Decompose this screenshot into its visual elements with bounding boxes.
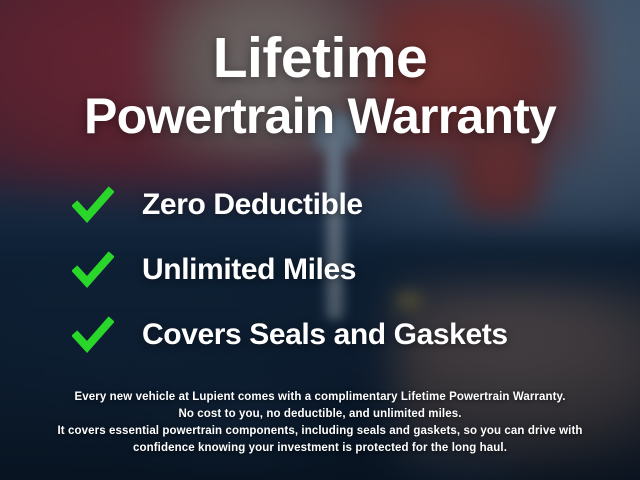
- footer-description: Every new vehicle at Lupient comes with …: [0, 389, 640, 457]
- check-icon: [72, 184, 114, 226]
- benefit-label: Covers Seals and Gaskets: [142, 318, 508, 352]
- headline: Lifetime Powertrain Warranty: [0, 30, 640, 146]
- check-icon: [72, 314, 114, 356]
- banner-content: Lifetime Powertrain Warranty Zero Deduct…: [0, 0, 640, 480]
- benefit-item-unlimited-miles: Unlimited Miles: [72, 237, 356, 302]
- footer-line-4: confidence knowing your investment is pr…: [28, 440, 612, 457]
- check-icon: [72, 249, 114, 291]
- benefit-item-covers-seals-and-gaskets: Covers Seals and Gaskets: [72, 302, 508, 367]
- benefit-list: Zero Deductible Unlimited Miles Covers S…: [0, 172, 640, 367]
- footer-line-1: Every new vehicle at Lupient comes with …: [28, 389, 612, 406]
- benefit-label: Unlimited Miles: [142, 253, 356, 287]
- headline-line-1: Lifetime: [0, 30, 640, 87]
- warranty-promo-banner: Lifetime Powertrain Warranty Zero Deduct…: [0, 0, 640, 480]
- benefit-label: Zero Deductible: [142, 188, 363, 222]
- headline-line-2: Powertrain Warranty: [0, 87, 640, 146]
- benefit-item-zero-deductible: Zero Deductible: [72, 172, 363, 237]
- footer-line-3: It covers essential powertrain component…: [28, 423, 612, 440]
- footer-line-2: No cost to you, no deductible, and unlim…: [28, 406, 612, 423]
